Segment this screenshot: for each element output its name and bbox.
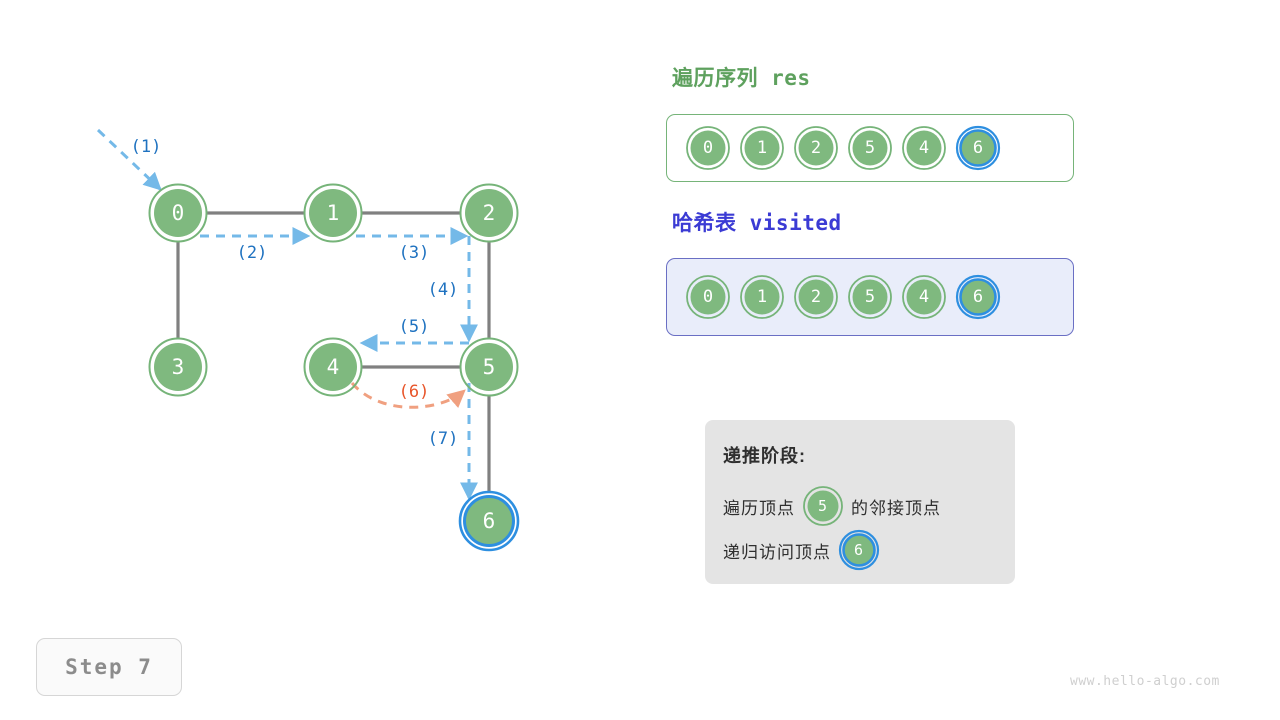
phase-line-2: 递归访问顶点 6 xyxy=(723,528,1015,572)
visited-cell-label: 6 xyxy=(973,287,983,307)
visited-cell[interactable]: 4 xyxy=(901,274,947,320)
phase-line-2-pre: 递归访问顶点 xyxy=(723,538,831,563)
footer-watermark: www.hello-algo.com xyxy=(1070,674,1220,689)
step-label-1: (1) xyxy=(131,137,162,157)
res-cell[interactable]: 0 xyxy=(685,125,731,171)
step-label-4: (4) xyxy=(428,280,459,300)
res-title: 遍历序列 res xyxy=(672,62,811,92)
phase-node-5-label: 5 xyxy=(818,497,828,515)
step-label-3: (3) xyxy=(399,243,430,263)
step-badge: Step 7 xyxy=(36,638,182,696)
visited-cell-label: 1 xyxy=(757,287,767,307)
graph-nodes: 0 1 2 3 xyxy=(150,185,519,551)
res-cell[interactable]: 5 xyxy=(847,125,893,171)
res-cell-highlighted[interactable]: 6 xyxy=(955,125,1001,171)
visited-title: 哈希表 visited xyxy=(672,207,842,237)
step-label-6: (6) xyxy=(399,382,430,402)
graph-node-0[interactable]: 0 xyxy=(150,185,207,242)
node-label: 4 xyxy=(327,355,340,379)
phase-node-5: 5 xyxy=(802,485,844,527)
graph-node-4[interactable]: 4 xyxy=(305,339,362,396)
step-label-2: (2) xyxy=(237,243,268,263)
graph-panel: 0 1 2 3 xyxy=(0,0,640,620)
phase-line-1-post: 的邻接顶点 xyxy=(851,494,941,519)
visited-cell-label: 5 xyxy=(865,287,875,307)
res-cell-label: 6 xyxy=(973,138,983,158)
res-cell-label: 5 xyxy=(865,138,875,158)
visited-cell-label: 4 xyxy=(919,287,929,307)
graph-node-2[interactable]: 2 xyxy=(461,185,518,242)
visited-cell-label: 2 xyxy=(811,287,821,307)
phase-node-6-label: 6 xyxy=(854,541,864,559)
node-label: 2 xyxy=(483,201,496,225)
visited-cell[interactable]: 1 xyxy=(739,274,785,320)
graph-node-6[interactable]: 6 xyxy=(460,492,518,550)
step-label-5: (5) xyxy=(399,317,430,337)
graph-node-3[interactable]: 3 xyxy=(150,339,207,396)
phase-line-1: 遍历顶点 5 的邻接顶点 xyxy=(723,484,1015,528)
phase-line-1-pre: 遍历顶点 xyxy=(723,494,795,519)
res-cell-label: 0 xyxy=(703,138,713,158)
node-label: 5 xyxy=(483,355,496,379)
node-label: 3 xyxy=(172,355,185,379)
res-cell[interactable]: 1 xyxy=(739,125,785,171)
visited-cell-label: 0 xyxy=(703,287,713,307)
graph-node-1[interactable]: 1 xyxy=(305,185,362,242)
res-cell[interactable]: 2 xyxy=(793,125,839,171)
res-cell-label: 2 xyxy=(811,138,821,158)
res-cell[interactable]: 4 xyxy=(901,125,947,171)
step-label-7: (7) xyxy=(428,429,459,449)
diagram-canvas: 0 1 2 3 xyxy=(0,0,1280,720)
res-cell-label: 1 xyxy=(757,138,767,158)
res-cell-label: 4 xyxy=(919,138,929,158)
graph-node-5[interactable]: 5 xyxy=(461,339,518,396)
phase-info-box: 递推阶段: 遍历顶点 5 的邻接顶点 递归访问顶点 6 xyxy=(705,420,1015,584)
graph-svg: 0 1 2 3 xyxy=(0,0,640,620)
phase-heading: 递推阶段: xyxy=(723,442,1015,468)
visited-cell-highlighted[interactable]: 6 xyxy=(955,274,1001,320)
visited-cell[interactable]: 0 xyxy=(685,274,731,320)
res-array: 0 1 2 5 4 6 xyxy=(666,114,1074,182)
traversal-arrows xyxy=(98,130,469,498)
node-label: 1 xyxy=(327,201,340,225)
right-panel: 遍历序列 res 0 1 2 5 4 6 哈希表 visited xyxy=(666,0,1280,720)
visited-cell[interactable]: 5 xyxy=(847,274,893,320)
phase-node-6: 6 xyxy=(838,529,880,571)
node-label: 6 xyxy=(483,509,496,533)
node-label: 0 xyxy=(172,201,185,225)
visited-cell[interactable]: 2 xyxy=(793,274,839,320)
visited-array: 0 1 2 5 4 6 xyxy=(666,258,1074,336)
